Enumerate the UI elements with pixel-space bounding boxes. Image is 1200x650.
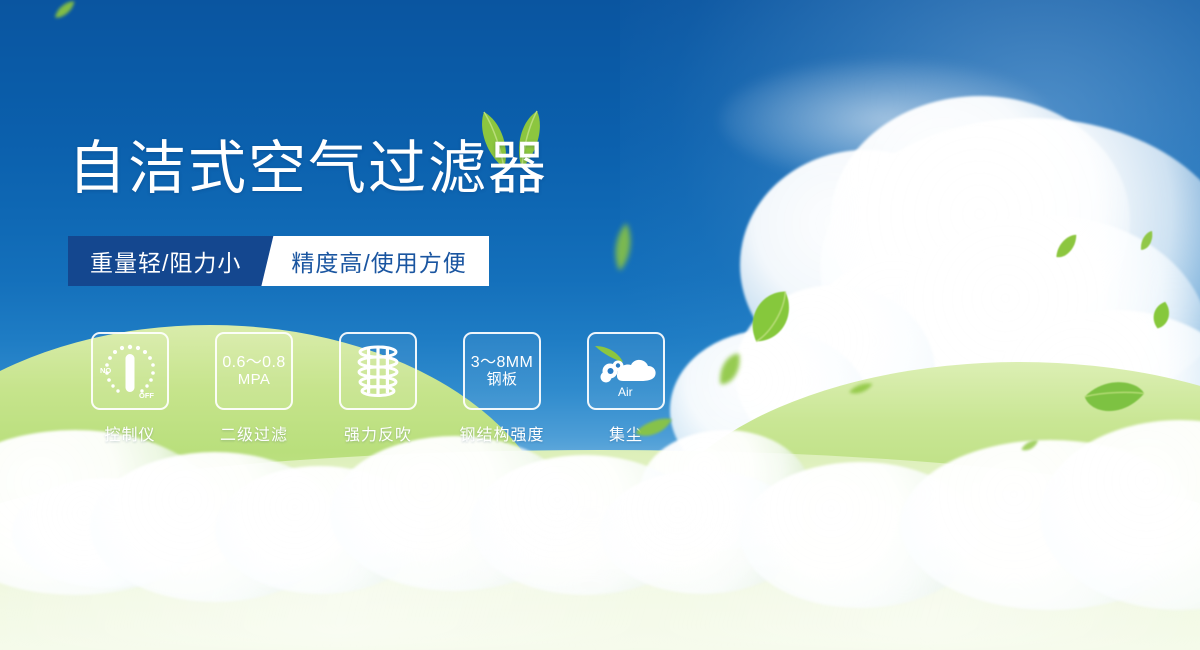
gauge-dial-icon: NO OFF (91, 332, 169, 410)
svg-text:OFF: OFF (139, 391, 154, 400)
subtitle-left-text: 重量轻/阻力小 (68, 236, 261, 286)
feature-caption: 强力反吹 (344, 421, 412, 445)
foreground-meadow (0, 450, 1200, 650)
feature-item-control-instrument[interactable]: NO OFF 控制仪 (68, 332, 192, 445)
feature-list: NO OFF 控制仪 0.6～0.8 MPA 二级过滤 (68, 332, 688, 445)
feature-caption: 控制仪 (104, 421, 155, 445)
feature-item-strong-back-blow[interactable]: 强力反吹 (316, 332, 440, 445)
feature-item-two-stage-filtration[interactable]: 0.6～0.8 MPA 二级过滤 (192, 332, 316, 445)
steel-material: 钢板 (471, 372, 533, 389)
subtitle-bar: 重量轻/阻力小 精度高/使用方便 (68, 236, 489, 286)
pressure-value: 0.6～0.8 (222, 354, 285, 371)
feature-caption: 集尘 (609, 421, 643, 445)
product-banner: 自洁式空气过滤器 重量轻/阻力小 精度高/使用方便 (0, 0, 1200, 650)
steel-thickness: 3～8MM (471, 354, 533, 371)
page-title: 自洁式空气过滤器 (68, 140, 548, 198)
pressure-unit: MPA (222, 372, 285, 389)
steel-plate-text-icon: 3～8MM 钢板 (463, 332, 541, 410)
steel-plate-text: 3～8MM 钢板 (471, 354, 533, 389)
subtitle-right-text: 精度高/使用方便 (287, 236, 488, 286)
svg-text:Air: Air (618, 385, 633, 399)
pressure-text-icon: 0.6～0.8 MPA (215, 332, 293, 410)
subtitle-divider (261, 236, 287, 286)
cloud-air-icon: Air (587, 332, 665, 410)
feature-item-steel-structure-strength[interactable]: 3～8MM 钢板 钢结构强度 (440, 332, 564, 445)
stacked-filter-discs-icon (339, 332, 417, 410)
feature-item-dust-collection[interactable]: Air 集尘 (564, 332, 688, 445)
ground (0, 465, 1200, 650)
pressure-text: 0.6～0.8 MPA (222, 354, 285, 389)
feature-caption: 钢结构强度 (459, 421, 544, 445)
svg-text:NO: NO (100, 366, 111, 375)
feature-caption: 二级过滤 (220, 421, 288, 445)
